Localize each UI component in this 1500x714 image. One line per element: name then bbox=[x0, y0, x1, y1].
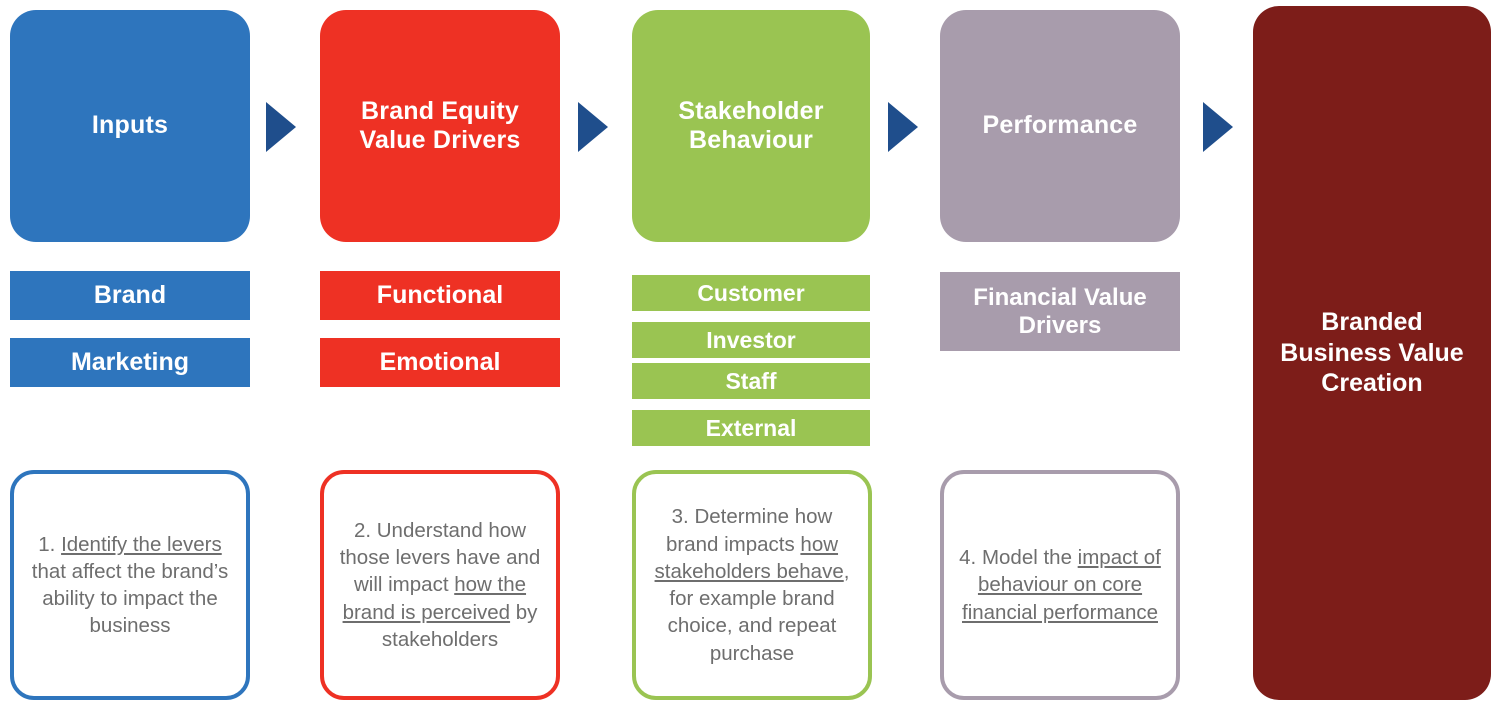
arrow-right-icon bbox=[578, 102, 608, 152]
outcome-box-branded-business-value-creation[interactable]: Branded Business Value Creation bbox=[1253, 6, 1491, 700]
description-text: 3. Determine how brand impacts how stake… bbox=[649, 503, 855, 667]
description-box-step-3[interactable]: 3. Determine how brand impacts how stake… bbox=[632, 470, 872, 700]
stage-header-label: Brand Equity Value Drivers bbox=[330, 97, 550, 156]
arrow-right-icon bbox=[888, 102, 918, 152]
description-box-step-2[interactable]: 2. Understand how those levers have and … bbox=[320, 470, 560, 700]
stage-header-label: Inputs bbox=[92, 111, 168, 141]
tag-label: Brand bbox=[94, 281, 166, 310]
arrow-right-icon bbox=[266, 102, 296, 152]
tag-label: Staff bbox=[725, 368, 776, 395]
description-text: 1. Identify the levers that affect the b… bbox=[27, 531, 233, 640]
arrow-right-icon bbox=[1203, 102, 1233, 152]
tag-label: Functional bbox=[377, 281, 503, 310]
outcome-label: Branded Business Value Creation bbox=[1267, 307, 1477, 399]
tag-stakeholder-external[interactable]: External bbox=[632, 410, 870, 446]
tag-label: Emotional bbox=[380, 348, 501, 377]
stage-header-stakeholder-behaviour[interactable]: Stakeholder Behaviour bbox=[632, 10, 870, 242]
tag-performance-financial-value-drivers[interactable]: Financial Value Drivers bbox=[940, 272, 1180, 351]
tag-stakeholder-customer[interactable]: Customer bbox=[632, 275, 870, 311]
description-text: 2. Understand how those levers have and … bbox=[337, 517, 543, 653]
stage-header-label: Performance bbox=[982, 111, 1137, 141]
diagram-canvas: Inputs Brand Equity Value Drivers Stakeh… bbox=[0, 0, 1500, 714]
tag-label: Marketing bbox=[71, 348, 189, 377]
tag-inputs-brand[interactable]: Brand bbox=[10, 271, 250, 320]
tag-inputs-marketing[interactable]: Marketing bbox=[10, 338, 250, 387]
description-box-step-1[interactable]: 1. Identify the levers that affect the b… bbox=[10, 470, 250, 700]
description-box-step-4[interactable]: 4. Model the impact of behaviour on core… bbox=[940, 470, 1180, 700]
stage-header-performance[interactable]: Performance bbox=[940, 10, 1180, 242]
tag-label: Customer bbox=[697, 280, 804, 307]
tag-stakeholder-investor[interactable]: Investor bbox=[632, 322, 870, 358]
tag-label: Investor bbox=[706, 327, 795, 354]
stage-header-brand-equity-value-drivers[interactable]: Brand Equity Value Drivers bbox=[320, 10, 560, 242]
tag-label: Financial Value Drivers bbox=[946, 284, 1174, 340]
tag-drivers-functional[interactable]: Functional bbox=[320, 271, 560, 320]
tag-drivers-emotional[interactable]: Emotional bbox=[320, 338, 560, 387]
stage-header-inputs[interactable]: Inputs bbox=[10, 10, 250, 242]
description-text: 4. Model the impact of behaviour on core… bbox=[957, 544, 1163, 626]
tag-stakeholder-staff[interactable]: Staff bbox=[632, 363, 870, 399]
tag-label: External bbox=[706, 415, 797, 442]
stage-header-label: Stakeholder Behaviour bbox=[642, 97, 860, 156]
